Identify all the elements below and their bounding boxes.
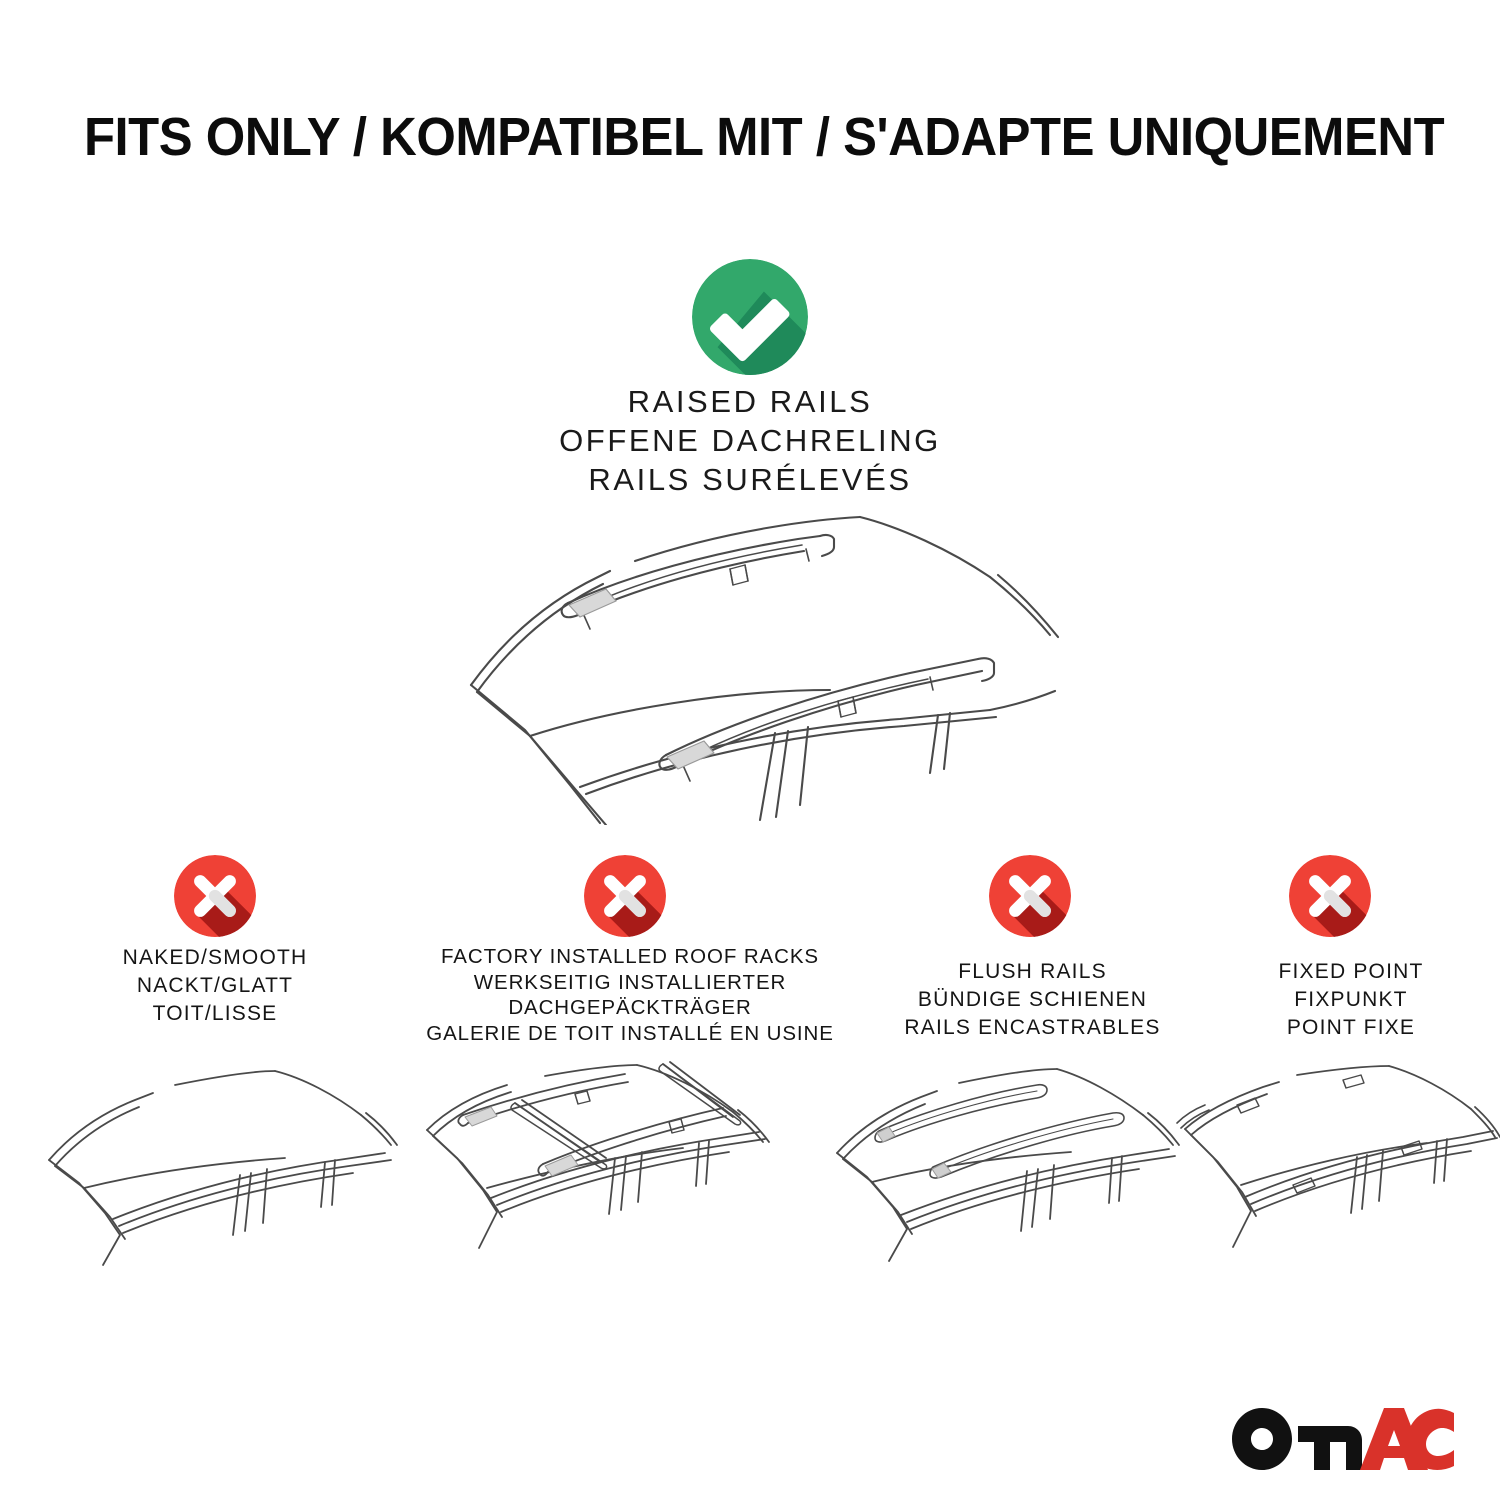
label-line-de: FIXPUNKT [1205,986,1497,1014]
label-line-en: FACTORY INSTALLED ROOF RACKS [395,944,865,970]
car-roof-with-raised-rails-drawing [430,505,1080,825]
label-line-de: NACKT/GLATT [40,972,390,1000]
compatible-label: RAISED RAILS OFFENE DACHRELING RAILS SUR… [390,382,1110,499]
logo-letter-o [1232,1408,1292,1470]
label-line-de-2: DACHGEPÄCKTRÄGER [395,995,865,1021]
compatible-label-de: OFFENE DACHRELING [390,421,1110,460]
red-x-circle-icon-naked-smooth [174,855,256,937]
label-line-fr: POINT FIXE [1205,1014,1497,1042]
incompatible-label-flush-rails: FLUSH RAILS BÜNDIGE SCHIENEN RAILS ENCAS… [860,958,1205,1042]
label-line-en: NAKED/SMOOTH [40,944,390,972]
label-line-de-1: WERKSEITIG INSTALLIERTER [395,970,865,996]
label-line-en: FIXED POINT [1205,958,1497,986]
red-x-circle-icon-flush-rails [989,855,1071,937]
label-line-en: FLUSH RAILS [860,958,1205,986]
car-roof-naked-smooth-drawing [35,1065,405,1290]
car-roof-fixed-point-drawing [1175,1065,1500,1290]
car-roof-factory-roof-racks-drawing [415,1060,810,1290]
green-check-circle-icon [692,259,808,375]
red-x-circle-icon-factory-roof-racks [584,855,666,937]
label-line-fr: GALERIE DE TOIT INSTALLÉ EN USINE [395,1021,865,1047]
logo-letter-m-left [1298,1426,1330,1470]
compatible-label-fr: RAILS SURÉLEVÉS [390,460,1110,499]
compatible-label-en: RAISED RAILS [390,382,1110,421]
label-line-fr: RAILS ENCASTRABLES [860,1014,1205,1042]
incompatible-label-factory-roof-racks: FACTORY INSTALLED ROOF RACKS WERKSEITIG … [395,944,865,1046]
omac-logo [1232,1408,1454,1470]
incompatible-label-naked-smooth: NAKED/SMOOTH NACKT/GLATT TOIT/LISSE [40,944,390,1028]
page-title: FITS ONLY / KOMPATIBEL MIT / S'ADAPTE UN… [84,106,1344,168]
label-line-de: BÜNDIGE SCHIENEN [860,986,1205,1014]
red-x-circle-icon-fixed-point [1289,855,1371,937]
logo-letter-m-right [1330,1426,1362,1470]
incompatible-label-fixed-point: FIXED POINT FIXPUNKT POINT FIXE [1205,958,1497,1042]
car-roof-flush-rails-drawing [825,1065,1210,1290]
label-line-fr: TOIT/LISSE [40,1000,390,1028]
